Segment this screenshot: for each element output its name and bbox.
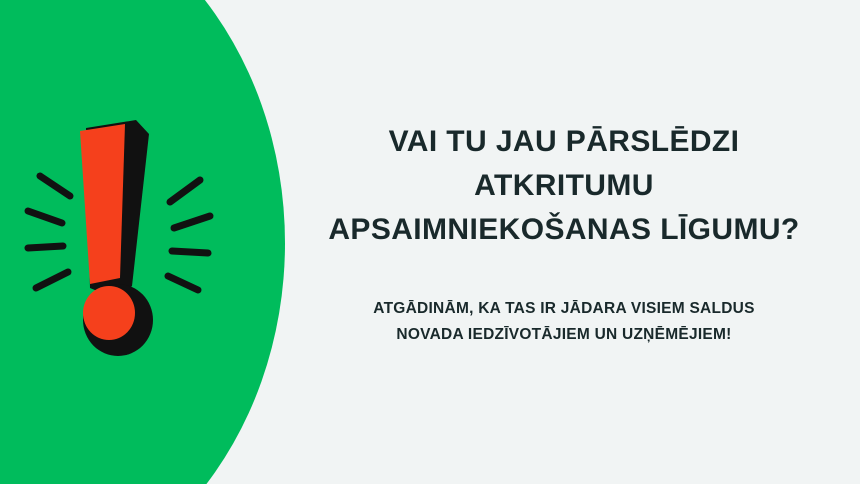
- exclamation-rays-left: [28, 176, 70, 288]
- headline-line-1: VAI TU JAU PĀRSLĒDZI: [268, 120, 860, 164]
- text-column: VAI TU JAU PĀRSLĒDZI ATKRITUMU APSAIMNIE…: [268, 0, 860, 484]
- exclamation-rays-right: [168, 180, 210, 290]
- exclamation-mark-icon: [18, 98, 218, 360]
- subheadline: ATGĀDINĀM, KA TAS IR JĀDARA VISIEM SALDU…: [268, 296, 860, 348]
- subheadline-line-1: ATGĀDINĀM, KA TAS IR JĀDARA VISIEM SALDU…: [268, 296, 860, 322]
- headline-line-3: APSAIMNIEKOŠANAS LĪGUMU?: [268, 208, 860, 252]
- exclamation-dot-face: [83, 286, 135, 340]
- exclamation-bar-face: [80, 124, 125, 284]
- promo-banner: VAI TU JAU PĀRSLĒDZI ATKRITUMU APSAIMNIE…: [0, 0, 860, 484]
- headline-line-2: ATKRITUMU: [268, 164, 860, 208]
- subheadline-line-2: NOVADA IEDZĪVOTĀJIEM UN UZŅĒMĒJIEM!: [268, 322, 860, 348]
- headline: VAI TU JAU PĀRSLĒDZI ATKRITUMU APSAIMNIE…: [268, 120, 860, 252]
